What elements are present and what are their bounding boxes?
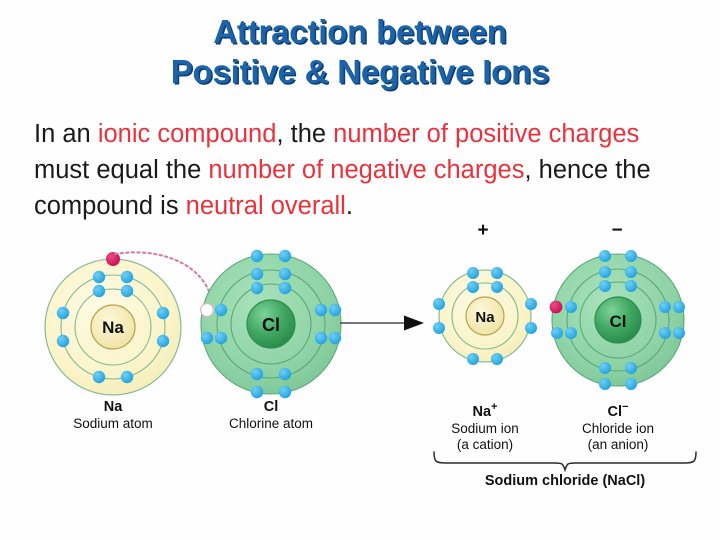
compound-label: Sodium chloride (NaCl) (430, 473, 700, 489)
chloride-ion-nucleus-label: Cl (610, 312, 627, 331)
sodium-ion-charge-sign: + (468, 220, 498, 242)
paragraph-seg-ionic-compound: ionic compound (98, 120, 277, 148)
chlorine-atom-symbol: Cl (201, 399, 341, 416)
page-title: Attraction between Positive & Negative I… (0, 12, 720, 92)
sodium-ion-name: Sodium ion (420, 421, 550, 437)
sodium-ion-charge: + (491, 401, 497, 413)
body-paragraph: In an ionic compound, the number of posi… (34, 116, 694, 224)
chloride-ion-charge: − (622, 401, 628, 413)
title-line-2: Positive & Negative Ions (0, 52, 720, 92)
paragraph-seg-9: . (346, 192, 353, 220)
chlorine-atom-label: Cl Chlorine atom (201, 399, 341, 432)
chloride-ion-label: Cl− Chloride ion (an anion) (553, 399, 683, 453)
sodium-ion-nucleus-label: Na (475, 309, 495, 326)
sodium-ion-symbol: Na+ (420, 399, 550, 421)
paragraph-seg-3: , the (276, 120, 333, 148)
chloride-ion-symbol-text: Cl (608, 404, 623, 420)
chloride-gained-electron (550, 301, 563, 314)
sodium-atom-name: Sodium atom (43, 416, 183, 432)
paragraph-seg-negative-charges: number of negative charges (208, 156, 524, 184)
chloride-ion-name: Chloride ion (553, 421, 683, 437)
sodium-atom-label: Na Sodium atom (43, 399, 183, 432)
sodium-atom-symbol: Na (43, 399, 183, 416)
ionic-bonding-diagram: Na (0, 222, 720, 539)
chlorine-electron-vacancy (201, 304, 214, 317)
slide-canvas: Attraction between Positive & Negative I… (0, 0, 720, 539)
paragraph-seg-positive-charges: number of positive charges (333, 120, 639, 148)
reaction-arrow (338, 312, 428, 334)
chloride-ion-diagram: Cl (547, 244, 689, 396)
chlorine-atom-name: Chlorine atom (201, 416, 341, 432)
nacl-grouping-brace (430, 450, 700, 472)
paragraph-seg-5: must equal the (34, 156, 208, 184)
chlorine-atom-nucleus-label: Cl (262, 315, 280, 335)
sodium-ion-label: Na+ Sodium ion (a cation) (420, 399, 550, 453)
chlorine-atom-diagram: Cl (196, 244, 346, 404)
chloride-ion-charge-sign: − (602, 220, 632, 242)
chloride-ion-symbol: Cl− (553, 399, 683, 421)
sodium-ion-diagram: Na (429, 260, 541, 372)
paragraph-seg-neutral-overall: neutral overall (186, 192, 346, 220)
title-line-1: Attraction between (0, 12, 720, 52)
paragraph-seg-1: In an (34, 120, 98, 148)
sodium-ion-symbol-text: Na (473, 404, 492, 420)
